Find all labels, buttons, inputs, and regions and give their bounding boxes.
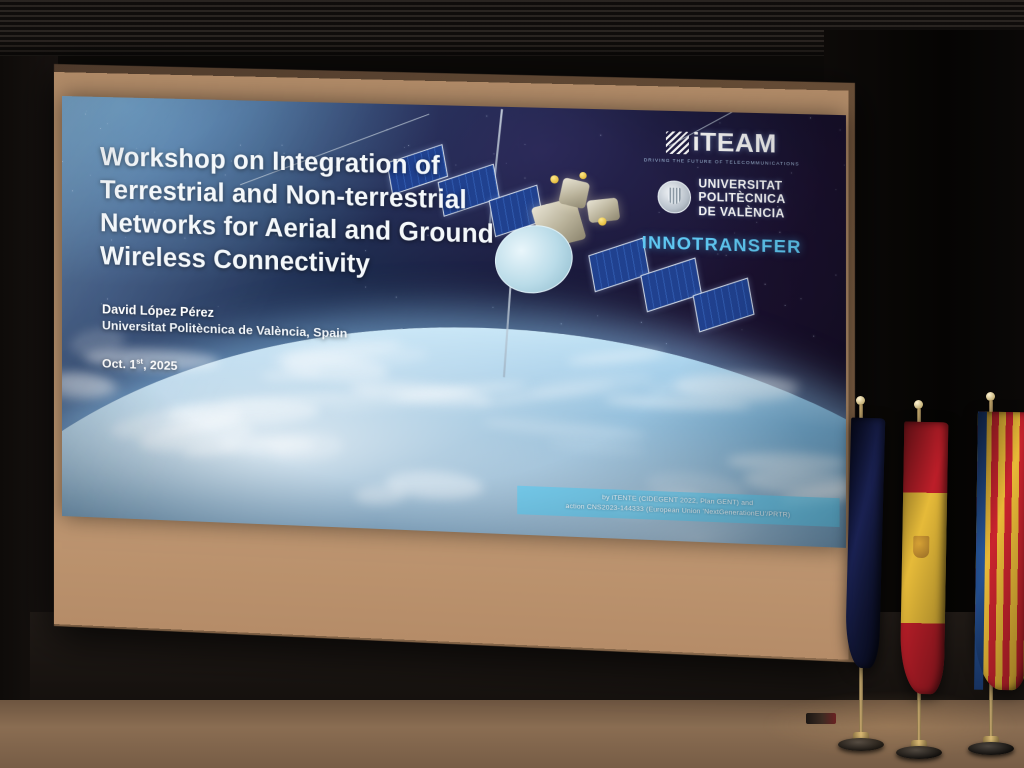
solar-panel-right-3 <box>693 277 755 332</box>
satellite-gold-node-2 <box>579 172 586 179</box>
flag-cloth-eu <box>845 418 886 669</box>
conference-hall-scene: Workshop on Integration of Terrestrial a… <box>0 0 1024 768</box>
slide-title: Workshop on Integration of Terrestrial a… <box>100 141 497 286</box>
upv-logo: UNIVERSITAT POLITÈCNICA DE VALÈNCIA <box>617 175 827 222</box>
flag-cloth-shade-es <box>900 422 949 695</box>
logo-stack: iTEAM Driving the future of telecommunic… <box>617 126 827 259</box>
upv-wordmark: UNIVERSITAT POLITÈCNICA DE VALÈNCIA <box>698 177 785 221</box>
valencian-community-flag <box>968 392 1024 764</box>
date-ordinal-suffix: st <box>136 357 143 366</box>
upv-line-3: DE VALÈNCIA <box>698 205 785 221</box>
satellite-gold-node-3 <box>598 217 606 225</box>
flag-base-gva <box>968 742 1014 755</box>
flag-cloth-es <box>900 422 949 695</box>
iteam-logo: iTEAM <box>617 126 827 161</box>
spain-flag <box>894 400 968 766</box>
solar-panel-right-2 <box>640 257 702 312</box>
flag-base-es <box>896 746 942 759</box>
date-prefix: Oct. 1 <box>102 356 136 371</box>
flag-base-eu <box>838 738 884 751</box>
slide-canvas: Workshop on Integration of Terrestrial a… <box>62 96 846 548</box>
projected-slide: Workshop on Integration of Terrestrial a… <box>62 96 846 548</box>
slide-date: Oct. 1st, 2025 <box>102 355 177 373</box>
iteam-signal-icon <box>666 131 689 154</box>
flag-cloth-gva <box>974 412 1024 691</box>
upv-seal-icon <box>658 180 691 214</box>
iteam-wordmark: iTEAM <box>692 128 776 160</box>
floor-equipment <box>806 713 836 724</box>
flag-cloth-shade-gva <box>974 412 1024 691</box>
flag-cloth-shade-eu <box>845 418 886 669</box>
date-year: , 2025 <box>143 358 177 373</box>
satellite-gold-node-1 <box>550 175 558 183</box>
